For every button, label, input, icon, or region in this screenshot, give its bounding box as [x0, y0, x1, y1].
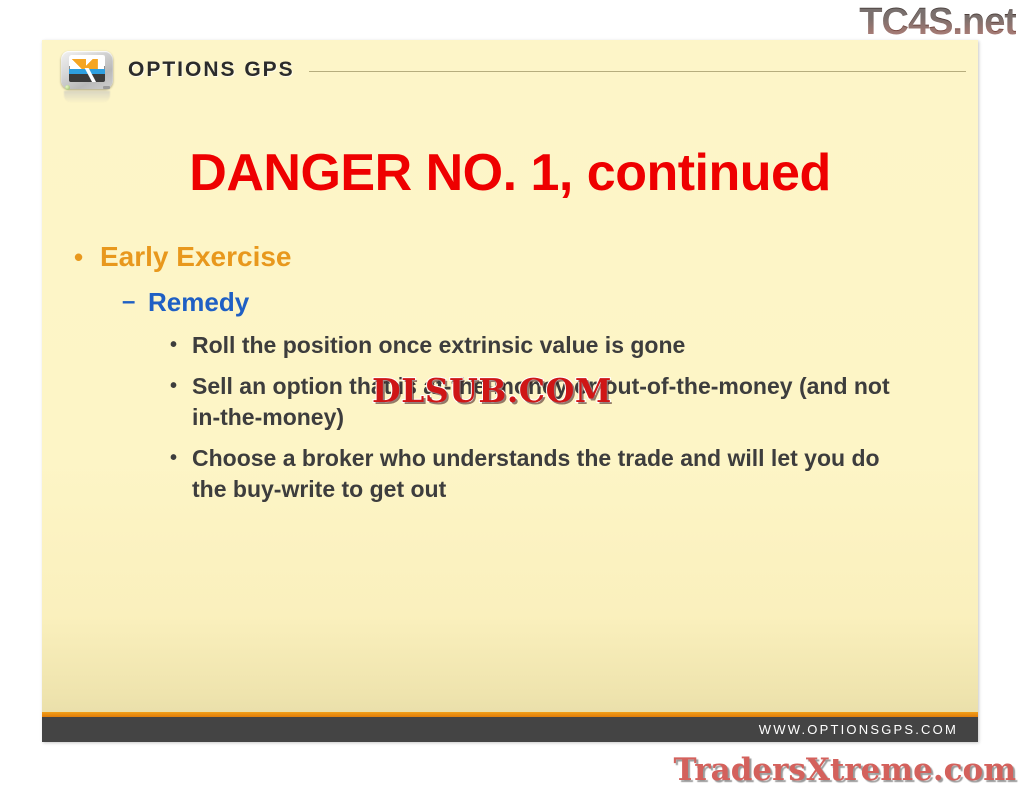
site-brand-tc4s: TC4S.net — [859, 2, 1016, 42]
bullet-marker-level3: • — [170, 443, 192, 474]
brand-label-options-gps: Options GPS — [128, 58, 295, 82]
bullet-level3-text: Roll the position once extrinsic value i… — [192, 330, 915, 361]
footer-url: www.OptionsGPS.com — [759, 722, 958, 737]
bullet-level3-text: Choose a broker who understands the trad… — [192, 443, 915, 505]
slide-header: Options GPS — [42, 40, 978, 100]
header-divider-line — [309, 71, 966, 72]
bullet-level2: – Remedy — [122, 286, 958, 318]
bullet-level2-text: Remedy — [148, 286, 249, 318]
gps-device-icon — [58, 47, 116, 93]
bullet-level3-item: • Choose a broker who understands the tr… — [170, 443, 915, 505]
slide-title: DANGER NO. 1, continued — [42, 145, 978, 201]
bullet-level1: • Early Exercise — [74, 240, 958, 274]
bullet-marker-level3: • — [170, 371, 192, 402]
bullet-marker-level2: – — [122, 286, 148, 318]
slide-footer: www.OptionsGPS.com — [42, 717, 978, 742]
bullet-level3-item: • Roll the position once extrinsic value… — [170, 330, 915, 361]
watermark-tradersxtreme: TradersXtreme.com — [673, 753, 1016, 787]
watermark-dlsub: DLSUB.COM — [372, 374, 612, 407]
bullet-level3-list: • Roll the position once extrinsic value… — [170, 330, 958, 505]
bullet-level1-text: Early Exercise — [100, 240, 292, 274]
bullet-marker-level3: • — [170, 330, 192, 361]
bullet-marker-level1: • — [74, 240, 100, 274]
